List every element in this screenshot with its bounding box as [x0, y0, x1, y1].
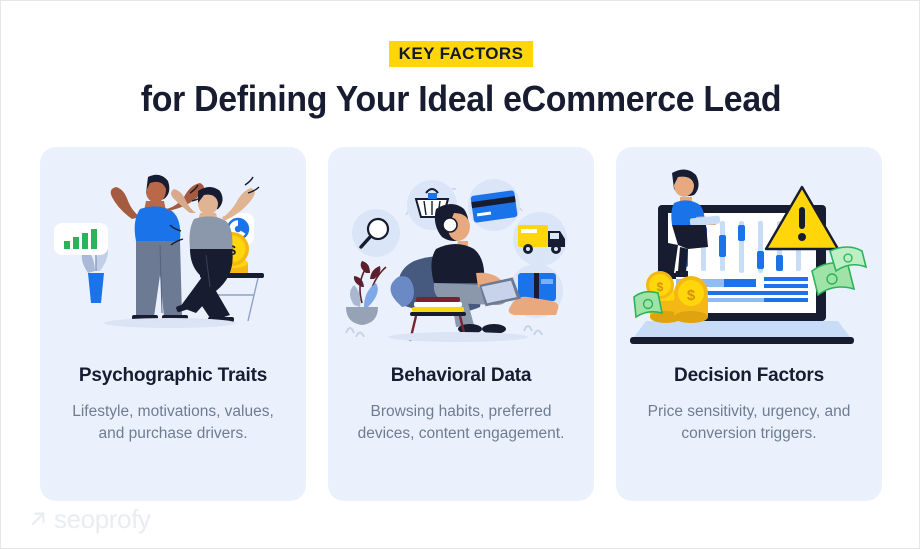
card-title: Decision Factors: [616, 365, 882, 387]
svg-text:$: $: [687, 287, 696, 304]
delivery-truck-icon: [513, 212, 567, 266]
card-decision-factors[interactable]: $ $ Decision Factors: [616, 147, 882, 501]
infographic-canvas: KEY FACTORS for Defining Your Ideal eCom…: [0, 0, 920, 549]
laptop-candlestick-chart-illustration: $ $: [616, 155, 882, 355]
person-on-beanbag-with-laptop-illustration: [328, 155, 594, 355]
credit-card-icon: [468, 179, 520, 231]
magnifying-glass-icon: [352, 209, 400, 257]
arrow-up-right-icon: [29, 510, 47, 528]
card-body: Browsing habits, preferred devices, cont…: [346, 401, 576, 445]
card-psychographic-traits[interactable]: $: [40, 147, 306, 501]
card-behavioral-data[interactable]: Behavioral Data Browsing habits, preferr…: [328, 147, 594, 501]
two-celebrating-people-illustration: $: [40, 155, 306, 355]
plant-icon: [346, 261, 386, 325]
page-title: for Defining Your Ideal eCommerce Lead: [29, 79, 894, 119]
bar-chart-icon: [54, 223, 108, 255]
card-body: Lifestyle, motivations, values, and purc…: [58, 401, 288, 445]
card-title: Behavioral Data: [328, 365, 594, 387]
card-title: Psychographic Traits: [40, 365, 306, 387]
key-factors-badge: KEY FACTORS: [389, 41, 534, 67]
logo-wordmark: seoprofy: [54, 506, 151, 532]
cards-row: $: [40, 147, 882, 501]
card-body: Price sensitivity, urgency, and conversi…: [634, 401, 864, 445]
svg-text:$: $: [657, 280, 664, 294]
footer-logo[interactable]: seoprofy: [29, 506, 151, 532]
header: KEY FACTORS for Defining Your Ideal eCom…: [1, 41, 920, 119]
